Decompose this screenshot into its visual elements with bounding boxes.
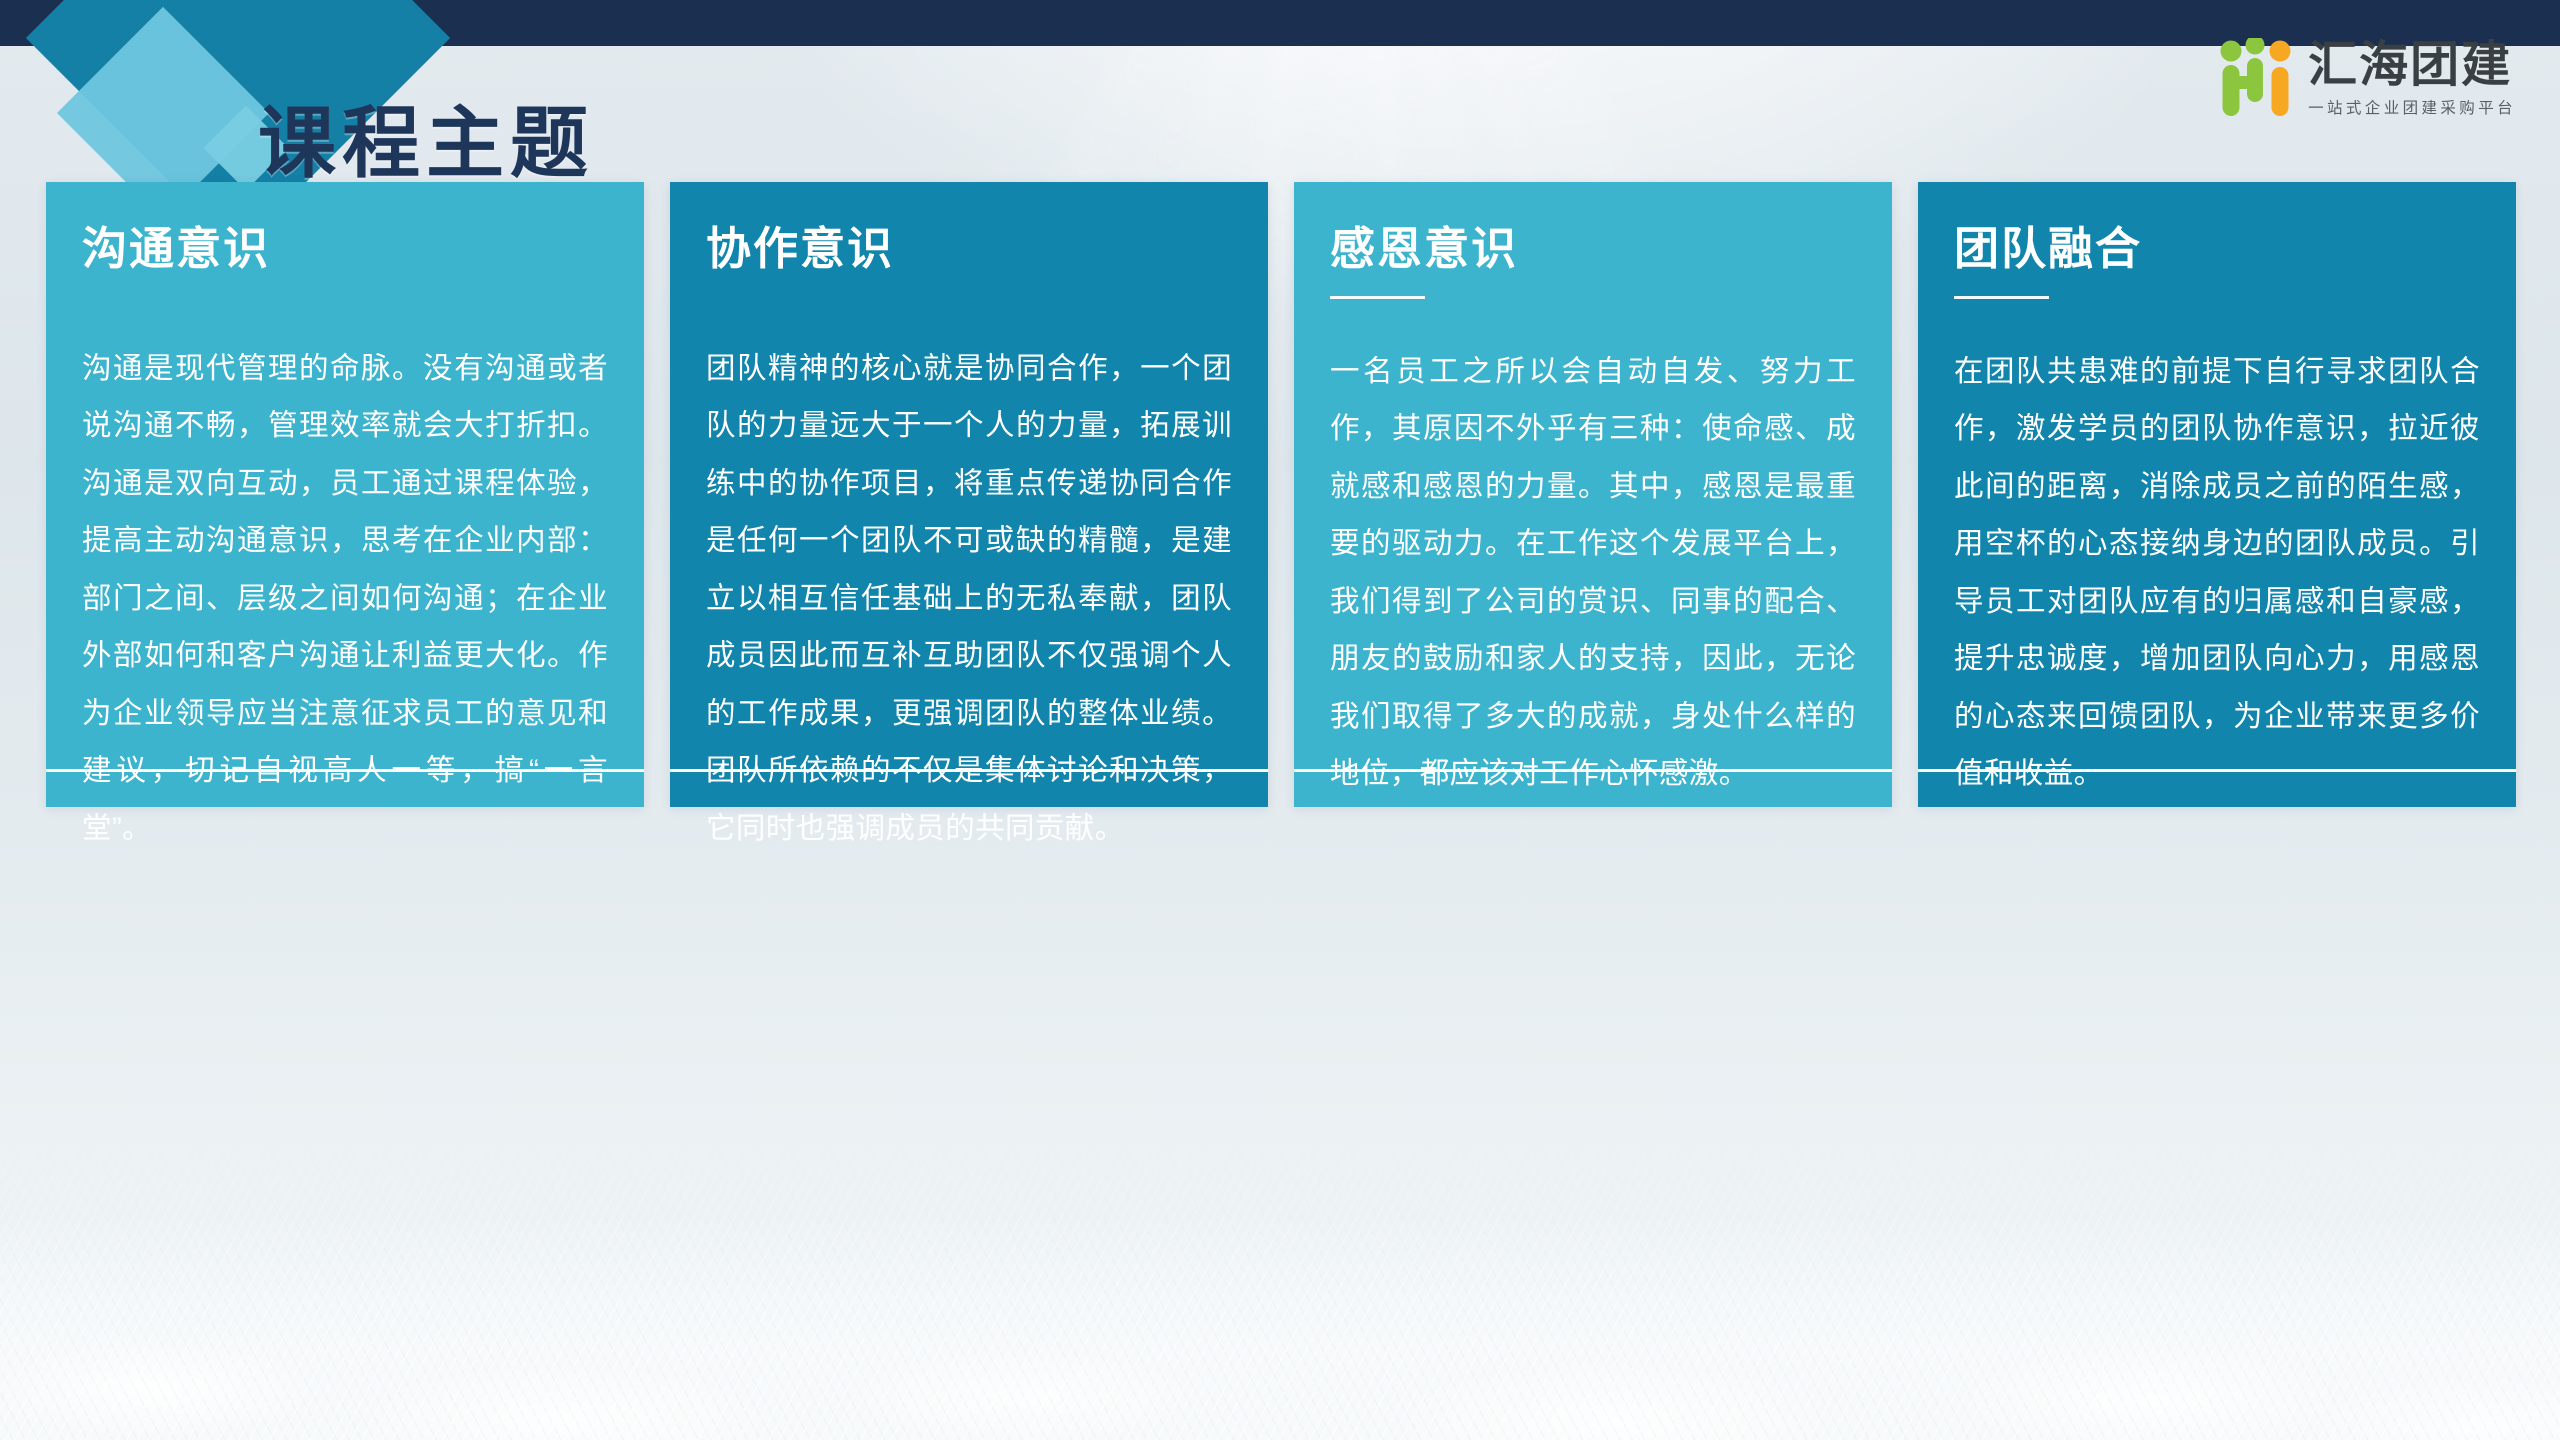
logo-name: 汇海团建	[2308, 40, 2516, 91]
logo-tagline: 一站式企业团建采购平台	[2308, 96, 2516, 118]
topic-card-title: 团队融合	[1954, 224, 2480, 274]
topic-card-body: 一名员工之所以会自动自发、努力工作，其原因不外乎有三种：使命感、成就感和感恩的力…	[1330, 343, 1856, 803]
topic-card-body: 团队精神的核心就是协同合作，一个团队的力量远大于一个人的力量，拓展训练中的协作项…	[706, 340, 1232, 858]
topic-card-footer-rule	[1918, 769, 2516, 772]
logo-text-block: 汇海团建 一站式企业团建采购平台	[2308, 38, 2516, 118]
topic-card-body: 在团队共患难的前提下自行寻求团队合作，激发学员的团队协作意识，拉近彼此间的距离，…	[1954, 343, 2480, 803]
brand-logo: 汇海团建 一站式企业团建采购平台	[2218, 38, 2516, 120]
snow-grain-texture	[0, 1140, 2560, 1440]
hi-people-icon	[2218, 38, 2292, 120]
topic-card-footer-rule	[1294, 769, 1892, 772]
topic-card-underline	[1954, 296, 2049, 299]
topic-card-body: 沟通是现代管理的命脉。没有沟通或者说沟通不畅，管理效率就会大打折扣。沟通是双向互…	[82, 340, 608, 858]
page-title: 课程主题	[258, 104, 594, 182]
topic-card[interactable]: 协作意识团队精神的核心就是协同合作，一个团队的力量远大于一个人的力量，拓展训练中…	[670, 182, 1268, 807]
topic-card-title: 协作意识	[706, 224, 1232, 274]
topic-card[interactable]: 团队融合在团队共患难的前提下自行寻求团队合作，激发学员的团队协作意识，拉近彼此间…	[1918, 182, 2516, 807]
topic-card[interactable]: 感恩意识一名员工之所以会自动自发、努力工作，其原因不外乎有三种：使命感、成就感和…	[1294, 182, 1892, 807]
topic-card-title: 感恩意识	[1330, 224, 1856, 274]
topic-card-row: 沟通意识沟通是现代管理的命脉。没有沟通或者说沟通不畅，管理效率就会大打折扣。沟通…	[46, 182, 2516, 807]
topic-card-footer-rule	[46, 769, 644, 772]
topic-card-title: 沟通意识	[82, 224, 608, 274]
topic-card[interactable]: 沟通意识沟通是现代管理的命脉。没有沟通或者说沟通不畅，管理效率就会大打折扣。沟通…	[46, 182, 644, 807]
topic-card-footer-rule	[670, 769, 1268, 772]
topic-card-underline	[1330, 296, 1425, 299]
